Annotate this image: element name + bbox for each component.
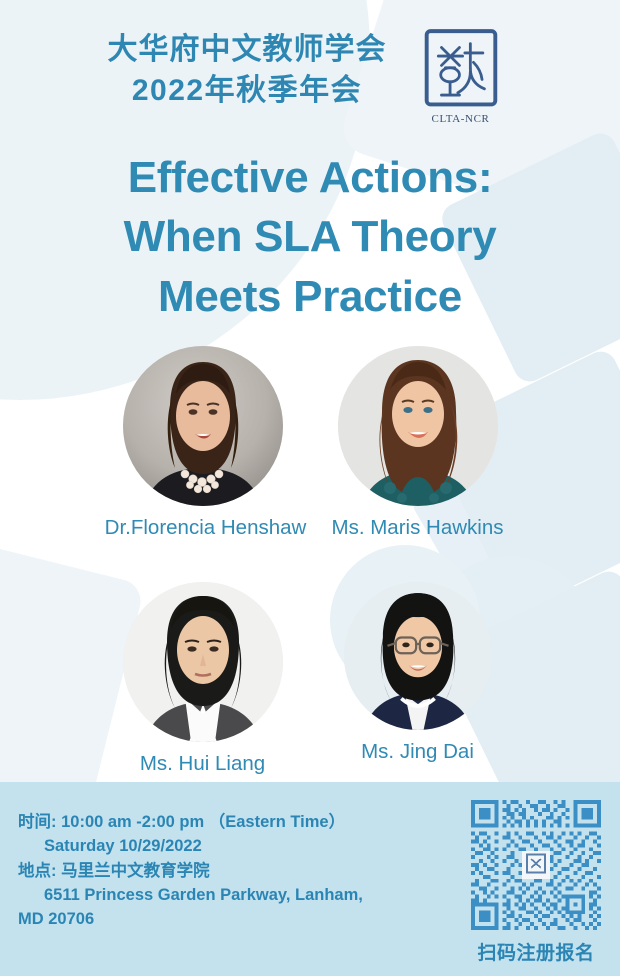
speaker-row-top: Dr.Florencia Henshaw — [0, 346, 620, 540]
speaker-card-florencia-henshaw: Dr.Florencia Henshaw — [95, 346, 310, 540]
speaker-card-hui-liang: Ms. Hui Liang — [95, 582, 310, 776]
portrait-jing-dai — [344, 582, 492, 730]
speaker-card-jing-dai: Ms. Jing Dai — [310, 582, 525, 764]
speaker-name: Ms. Hui Liang — [95, 752, 310, 776]
title-line-1: Effective Actions: — [0, 148, 620, 207]
speaker-name: Ms. Jing Dai — [310, 740, 525, 764]
portrait-maris-hawkins — [338, 346, 498, 506]
time-label: 时间: — [18, 810, 57, 834]
speaker-name: Ms. Maris Hawkins — [310, 516, 525, 540]
event-place-row: 地点: 马里兰中文教育学院 — [18, 859, 468, 883]
speaker-name: Dr.Florencia Henshaw — [101, 516, 310, 540]
organization-logo: CLTA-NCR — [409, 26, 513, 125]
place-address-line1: 6511 Princess Garden Parkway, Lanham, — [18, 883, 468, 907]
portrait-florencia-henshaw — [123, 346, 283, 506]
time-value: 10:00 am -2:00 pm （Eastern Time） — [61, 813, 345, 831]
title-line-3: Meets Practice — [0, 267, 620, 326]
qr-code-registration-icon[interactable] — [471, 800, 601, 930]
clta-ncr-seal-icon — [422, 28, 500, 110]
registration-qr-block[interactable]: 扫码注册报名 — [466, 800, 606, 965]
organization-title: 大华府中文教师学会 2022年秋季年会 — [108, 26, 387, 112]
place-address-line2: MD 20706 — [18, 907, 468, 931]
organization-name-line2: 2022年秋季年会 — [108, 71, 387, 112]
organization-name-line1: 大华府中文教师学会 — [108, 30, 387, 71]
event-details: 时间: 10:00 am -2:00 pm （Eastern Time） Sat… — [18, 810, 468, 931]
speaker-card-maris-hawkins: Ms. Maris Hawkins — [310, 346, 525, 540]
place-value: 马里兰中文教育学院 — [61, 862, 210, 880]
place-label: 地点: — [18, 859, 57, 883]
page-title: Effective Actions: When SLA Theory Meets… — [0, 148, 620, 326]
speaker-row-bottom: Ms. Hui Liang — [0, 582, 620, 776]
poster-header: 大华府中文教师学会 2022年秋季年会 — [0, 26, 620, 125]
poster: 大华府中文教师学会 2022年秋季年会 — [0, 0, 620, 976]
logo-caption: CLTA-NCR — [409, 113, 513, 125]
portrait-hui-liang — [123, 582, 283, 742]
speakers-section: Dr.Florencia Henshaw — [0, 346, 620, 776]
time-value-date: Saturday 10/29/2022 — [18, 834, 468, 858]
qr-caption: 扫码注册报名 — [466, 938, 606, 965]
event-time-row: 时间: 10:00 am -2:00 pm （Eastern Time） — [18, 810, 468, 834]
title-line-2: When SLA Theory — [0, 207, 620, 266]
event-info-band: 时间: 10:00 am -2:00 pm （Eastern Time） Sat… — [0, 782, 620, 976]
